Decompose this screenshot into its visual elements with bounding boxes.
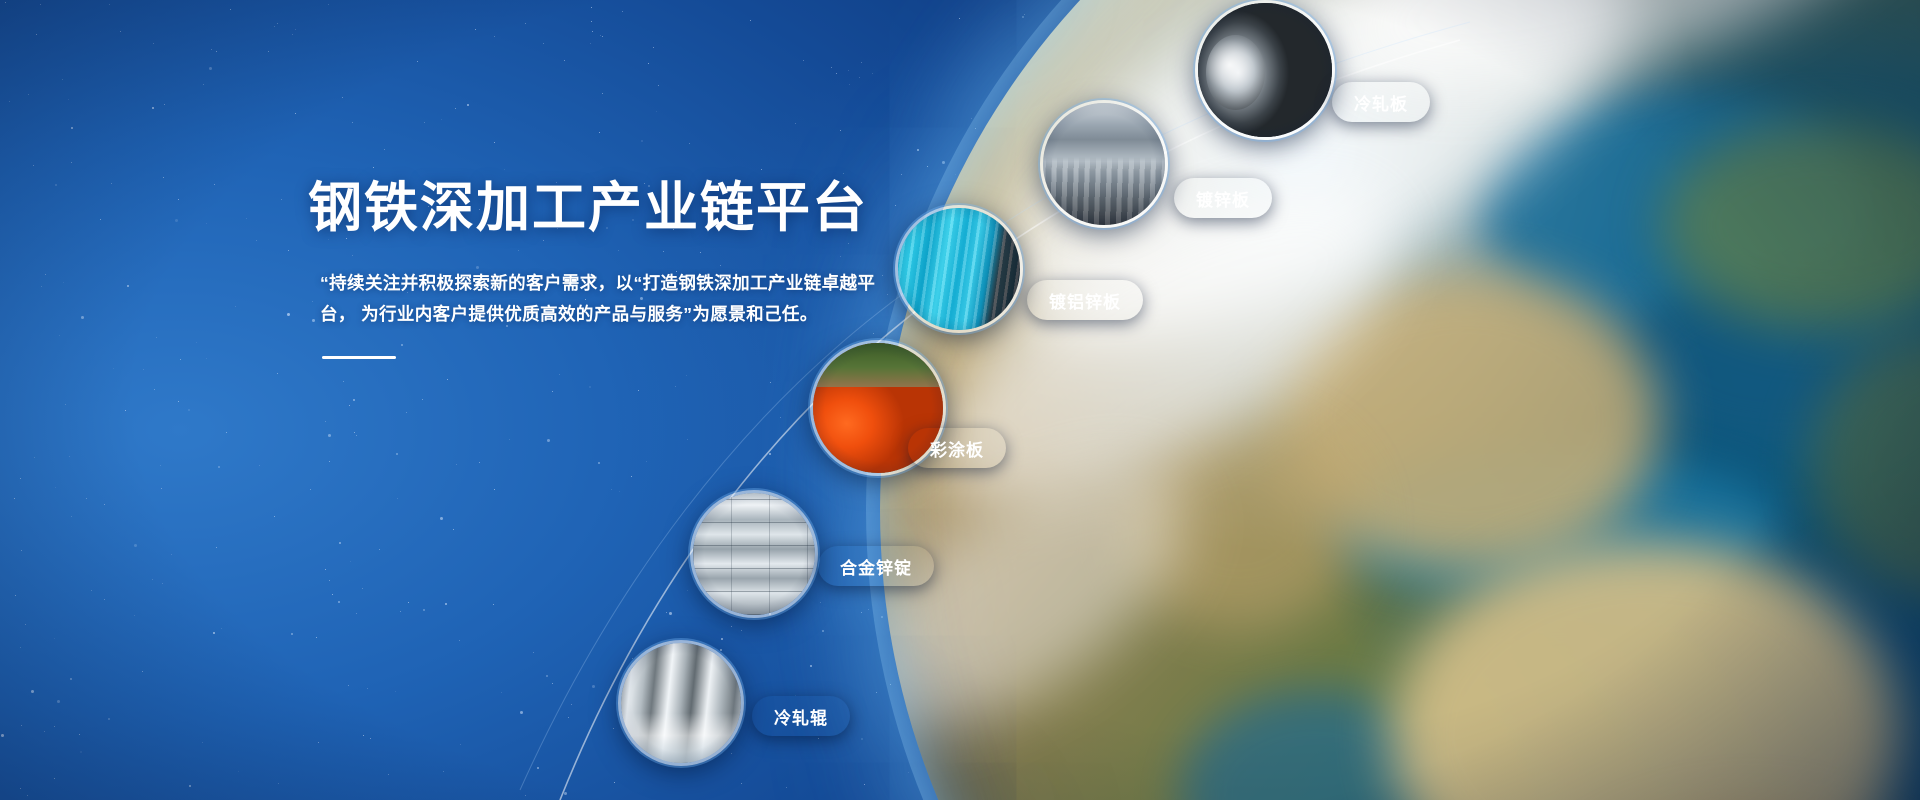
- subtitle-line-2: 为行业内客户提供优质高效的产品与服务”为愿景和己任。: [361, 304, 818, 324]
- steel-coils-image: [1198, 3, 1332, 137]
- product-label-cold-rolling-roll[interactable]: 冷轧辊: [752, 696, 850, 736]
- steel-rollers-image: [621, 643, 741, 763]
- product-thumbnail-color-coated-plate[interactable]: [810, 340, 946, 476]
- title-divider: [322, 356, 396, 359]
- product-thumbnail-cold-rolling-roll[interactable]: [618, 640, 744, 766]
- aluzinc-sheets-image: [898, 208, 1020, 330]
- hero-copy: 钢铁深加工产业链平台 “持续关注并积极探索新的客户需求，以“打造钢铁深加工产业链…: [308, 178, 948, 359]
- product-label-cold-rolled-plate[interactable]: 冷轧板: [1332, 82, 1430, 122]
- product-label-galvanized-plate[interactable]: 镀锌板: [1174, 178, 1272, 218]
- product-thumbnail-cold-rolled-plate[interactable]: [1195, 0, 1335, 140]
- page-subtitle: “持续关注并积极探索新的客户需求，以“打造钢铁深加工产业链卓越平台， 为行业内客…: [320, 268, 880, 329]
- page-title: 钢铁深加工产业链平台: [308, 178, 948, 238]
- connector-arc: [0, 0, 1920, 800]
- product-thumbnail-aluzinc-plate[interactable]: [895, 205, 1023, 333]
- vignette-overlay: [0, 0, 1920, 800]
- hero-banner: 钢铁深加工产业链平台 “持续关注并积极探索新的客户需求，以“打造钢铁深加工产业链…: [0, 0, 1920, 800]
- product-thumbnail-alloy-zinc-ingot[interactable]: [690, 490, 818, 618]
- product-thumbnail-galvanized-plate[interactable]: [1040, 100, 1168, 228]
- zinc-ingots-image: [693, 493, 815, 615]
- product-label-aluzinc-plate[interactable]: 镀铝锌板: [1027, 280, 1143, 320]
- coil-warehouse-image: [1043, 103, 1165, 225]
- product-label-alloy-zinc-ingot[interactable]: 合金锌锭: [818, 546, 934, 586]
- starfield-decoration: [0, 0, 1920, 800]
- color-coated-coils-image: [813, 343, 943, 473]
